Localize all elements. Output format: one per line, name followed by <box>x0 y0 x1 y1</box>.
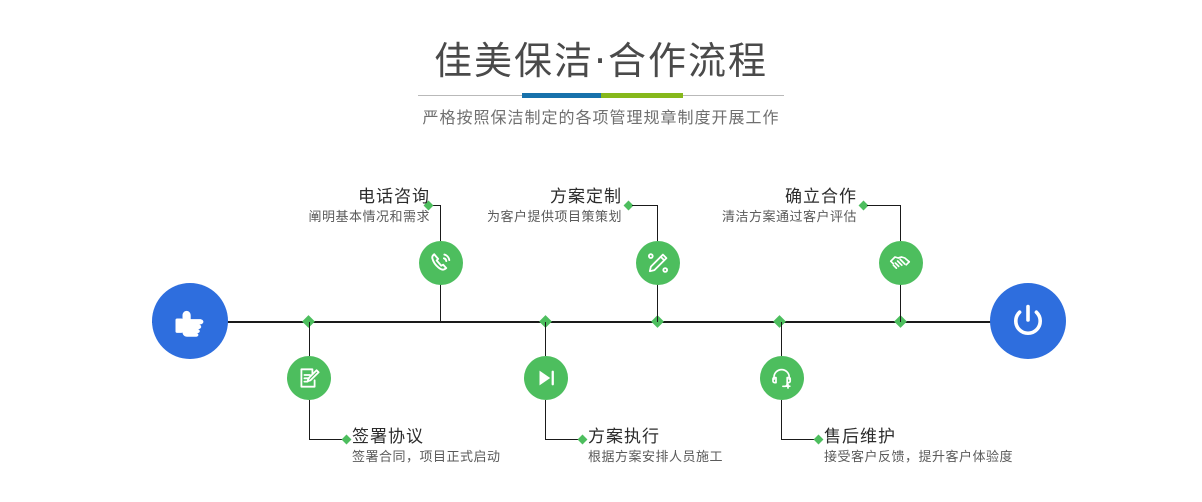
step-title: 方案执行 <box>588 426 838 448</box>
connector-line <box>545 322 546 356</box>
step-label-2: 签署协议 签署合同，项目正式启动 <box>352 426 612 468</box>
step-desc: 签署合同，项目正式启动 <box>352 448 612 468</box>
connector-line <box>309 322 310 356</box>
connector-line <box>545 400 546 439</box>
timeline-marker <box>773 315 786 328</box>
process-flow-diagram: 电话咨询 阐明基本情况和需求 签署协议 签署合同，项目正式启动 <box>0 0 1202 502</box>
step-title: 确立合作 <box>640 186 857 208</box>
connector-line <box>900 284 901 322</box>
document-pencil-icon <box>287 356 331 400</box>
step-label-4: 方案执行 根据方案安排人员施工 <box>588 426 838 468</box>
design-pencil-icon <box>636 241 680 285</box>
phone-call-icon <box>419 241 463 285</box>
step-title: 电话咨询 <box>180 186 430 208</box>
step-title: 签署协议 <box>352 426 612 448</box>
connector-line <box>781 400 782 439</box>
step-title: 售后维护 <box>824 426 1124 448</box>
connector-line <box>781 322 782 356</box>
connector-line <box>657 284 658 322</box>
step-desc: 清洁方案通过客户评估 <box>640 208 857 228</box>
headset-support-icon <box>760 356 804 400</box>
connector-line <box>781 439 817 440</box>
connector-line <box>545 439 581 440</box>
step-label-3: 方案定制 为客户提供项目策策划 <box>400 186 622 228</box>
step-title: 方案定制 <box>400 186 622 208</box>
step-desc: 为客户提供项目策策划 <box>400 208 622 228</box>
connector-line <box>900 205 901 241</box>
connector-line <box>309 400 310 439</box>
pointing-hand-icon <box>152 283 228 359</box>
step-label-5: 确立合作 清洁方案通过客户评估 <box>640 186 857 228</box>
handshake-icon <box>879 241 923 285</box>
connector-line <box>440 284 441 322</box>
step-desc: 接受客户反馈，提升客户体验度 <box>824 448 1124 468</box>
step-desc: 根据方案安排人员施工 <box>588 448 838 468</box>
step-label-6: 售后维护 接受客户反馈，提升客户体验度 <box>824 426 1124 468</box>
timeline-axis <box>152 321 1048 323</box>
connector-line <box>309 439 345 440</box>
step-label-1: 电话咨询 阐明基本情况和需求 <box>180 186 430 228</box>
step-desc: 阐明基本情况和需求 <box>180 208 430 228</box>
connector-line <box>867 205 901 206</box>
play-execute-icon <box>524 356 568 400</box>
power-button-icon <box>990 283 1066 359</box>
label-marker <box>342 435 352 445</box>
